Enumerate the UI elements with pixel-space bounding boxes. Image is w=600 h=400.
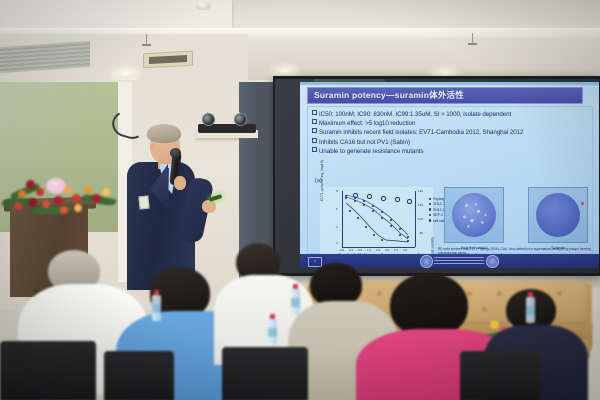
video-camera-icon bbox=[234, 113, 247, 126]
water-bottle bbox=[291, 289, 300, 315]
list-item: IC50: 100nM; IC90: 830nM, IC99:1.35uM, S… bbox=[312, 110, 590, 119]
petri-dish-icon bbox=[452, 193, 496, 237]
slide-body-box: IC50: 100nM; IC90: 830nM, IC99:1.35uM, S… bbox=[307, 106, 593, 254]
speaker-hair bbox=[147, 124, 181, 143]
bullet-text: Inhibits CA16 but not PV1 (Sabin) bbox=[319, 139, 410, 146]
speaker-name-badge bbox=[138, 196, 149, 210]
chair-back bbox=[460, 351, 540, 400]
bullet-text: Suramin inhibits recent field isolates: … bbox=[319, 129, 523, 136]
bullet-square-icon bbox=[312, 119, 317, 124]
speaker-hand-holding-pointer bbox=[202, 200, 216, 213]
petri-dish-icon bbox=[536, 193, 580, 237]
chart-secondary-axis bbox=[415, 191, 416, 247]
ceiling-mic-stem-icon bbox=[472, 33, 473, 43]
audience-group bbox=[0, 255, 600, 400]
chair-back bbox=[222, 347, 308, 400]
downlight-icon bbox=[115, 70, 137, 78]
bullet-text: IC50: 100nM; IC90: 830nM, IC99:1.35uM, S… bbox=[319, 111, 511, 118]
slide-title-bar: Suramin potency—suramin体外活性 bbox=[307, 87, 583, 104]
microphone-head-icon bbox=[170, 148, 181, 158]
bullet-square-icon bbox=[312, 128, 317, 133]
speaker-hand-holding-mic bbox=[174, 176, 186, 190]
ceiling-speaker-icon bbox=[143, 51, 193, 69]
slide-title: Suramin potency—suramin体外活性 bbox=[314, 89, 464, 101]
bullet-square-icon bbox=[312, 147, 317, 152]
bullet-text: Unable to generate resistance mutants bbox=[319, 148, 423, 155]
chair-back bbox=[0, 341, 96, 400]
chair-back bbox=[104, 351, 174, 400]
water-bottle bbox=[268, 319, 277, 345]
plaque-image-control: Drug free control bbox=[444, 187, 504, 243]
video-camera-icon bbox=[202, 113, 215, 126]
chart-plot-area: 8 6 4 2 bbox=[342, 191, 415, 248]
bullet-square-icon bbox=[312, 138, 317, 143]
plaque-image-suramin: Suramin bbox=[528, 187, 588, 243]
speaker-ear bbox=[150, 143, 156, 151]
marker-square-icon bbox=[581, 202, 584, 205]
list-item: Inhibits CA16 but not PV1 (Sabin) bbox=[312, 138, 590, 147]
list-item: Unable to generate resistance mutants bbox=[312, 147, 590, 156]
slide-bullet-list: IC50: 100nM; IC90: 830nM, IC99:1.35uM, S… bbox=[312, 110, 590, 156]
water-bottle bbox=[152, 295, 161, 321]
smoke-detector-icon bbox=[196, 2, 211, 10]
chart-trend-lines bbox=[343, 191, 415, 247]
list-item: Maximum effect: >5 log10 reduction bbox=[312, 119, 590, 128]
ceiling-mic-stem-icon bbox=[146, 34, 147, 44]
water-bottle bbox=[526, 297, 535, 323]
photo-canvas: Suramin potency—suramin体外活性 IC50: 100nM;… bbox=[0, 0, 600, 400]
list-item: Suramin inhibits recent field isolates: … bbox=[312, 128, 590, 137]
downlight-icon bbox=[274, 68, 296, 76]
chart-y-axis-label: EV71 genome eq. (log10) bbox=[320, 160, 324, 201]
bullet-square-icon bbox=[312, 110, 317, 115]
podium-flower-arrangement bbox=[2, 176, 118, 216]
slide-top-accent bbox=[300, 82, 599, 85]
presentation-slide: Suramin potency—suramin体外活性 IC50: 100nM;… bbox=[300, 82, 599, 268]
bullet-text: Maximum effect: >5 log10 reduction bbox=[319, 120, 415, 127]
